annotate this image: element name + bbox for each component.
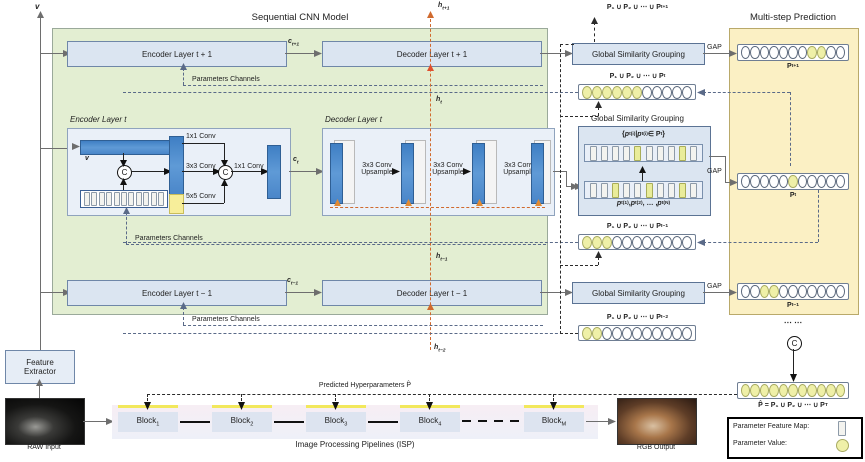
parameter-feature-map-bar bbox=[612, 146, 619, 161]
parameter-feature-map-bar bbox=[612, 183, 619, 198]
parameter-value-circle bbox=[769, 285, 778, 298]
encoder-conv5x5-arrow-icon bbox=[220, 179, 229, 186]
parameter-value-circle bbox=[798, 175, 807, 188]
parameter-feature-map-bar bbox=[634, 146, 641, 161]
rgb-output-label: RGB Output bbox=[617, 444, 695, 451]
union-t-feedback-arrow-icon bbox=[697, 88, 705, 97]
c-mid-line bbox=[289, 171, 319, 172]
encoder-layer-top-label: Encoder Layer t + 1 bbox=[142, 50, 212, 59]
parameter-value-circle bbox=[672, 86, 682, 99]
parameter-value-circle bbox=[741, 46, 750, 59]
final-prediction-label: P̂ = P₁ ∪ P₂ ∪ ⋯ ∪ PT bbox=[730, 401, 856, 409]
parameter-value-circle bbox=[672, 327, 682, 340]
union-tm1-feed-vline bbox=[598, 257, 599, 265]
isp-connector-2-3 bbox=[274, 421, 304, 423]
final-concat-line bbox=[793, 349, 794, 377]
gsg-mid-row-top bbox=[584, 144, 703, 162]
encoder-feature-tall-bar bbox=[169, 136, 184, 196]
parameter-feature-map-bar bbox=[668, 146, 675, 161]
parameter-value-circle bbox=[798, 285, 807, 298]
gsg-mid-seq-label: pt(1), pt(2), … , pt(N) bbox=[578, 200, 709, 207]
diagram-root: Sequential CNN Model Multi-step Predicti… bbox=[0, 0, 865, 462]
params-channels-mid-line bbox=[126, 244, 546, 245]
parameter-value-circle bbox=[817, 384, 826, 397]
parameter-value-circle bbox=[592, 236, 602, 249]
isp-block-2-label: Block2 bbox=[231, 416, 254, 428]
decoder-op-2-arrow-icon bbox=[463, 167, 471, 176]
predicted-hyper-arrow-1-icon bbox=[143, 402, 152, 410]
parameter-feature-map-bar bbox=[590, 183, 597, 198]
isp-connector-4-m bbox=[462, 420, 522, 422]
parameter-value-circle bbox=[750, 46, 759, 59]
h-tm2-label: ht−2 bbox=[434, 344, 446, 353]
union-column-mid-hline bbox=[560, 116, 598, 117]
decoder-marker-1-icon bbox=[333, 199, 342, 207]
encoder-layer-top[interactable]: Encoder Layer t + 1 bbox=[67, 41, 287, 67]
parameter-value-circle bbox=[582, 86, 592, 99]
parameter-value-circle bbox=[622, 327, 632, 340]
legend-value-icon bbox=[836, 439, 849, 452]
parameter-value-circle bbox=[760, 175, 769, 188]
gap-mid-label: GAP bbox=[707, 168, 722, 175]
isp-to-rgb-arrow-icon bbox=[608, 417, 616, 426]
parameter-value-circle bbox=[788, 384, 797, 397]
prediction-row-tm1 bbox=[737, 283, 849, 300]
parameter-feature-map-bar bbox=[657, 183, 664, 198]
gsg-bottom-to-pred-arrow-icon bbox=[729, 288, 737, 297]
final-concat-node: C bbox=[787, 336, 802, 351]
union-tm1-row bbox=[578, 234, 696, 250]
encoder-layer-bottom-label: Encoder Layer t − 1 bbox=[142, 289, 212, 298]
parameter-value-circle bbox=[769, 384, 778, 397]
decoder-marker-base-line bbox=[330, 207, 545, 208]
parameter-value-circle bbox=[750, 175, 759, 188]
parameter-feature-map-bar bbox=[646, 146, 653, 161]
parameter-value-circle bbox=[807, 285, 816, 298]
feature-extractor-line2: Extractor bbox=[24, 367, 56, 376]
feature-extractor-line1: Feature bbox=[26, 358, 54, 367]
union-t-feedback-vline bbox=[790, 92, 791, 166]
encoder-v-label: v bbox=[85, 155, 89, 162]
parameter-value-circle bbox=[602, 86, 612, 99]
union-tm1-label: P₁ ∪ P₂ ∪ ⋯ ∪ Pt−1 bbox=[565, 222, 710, 230]
decoder-op-1-arrow-icon bbox=[392, 167, 400, 176]
c-mid-label: ct bbox=[293, 156, 299, 165]
encoder-v-in-arrow-icon bbox=[72, 142, 80, 151]
parameter-value-circle bbox=[807, 175, 816, 188]
isp-block-1[interactable]: Block1 bbox=[118, 412, 178, 432]
isp-title: Image Processing Pipelines (ISP) bbox=[170, 440, 540, 449]
v-branch-bottom bbox=[40, 292, 65, 293]
prediction-row-tm1-label: Pt−1 bbox=[737, 302, 849, 309]
decoder-layer-top-label: Decoder Layer t + 1 bbox=[397, 50, 467, 59]
decoder-op-1-line2: Upsample bbox=[361, 169, 393, 176]
encoder-conv3x3-line bbox=[182, 171, 216, 172]
decoder-t-title: Decoder Layer t bbox=[325, 115, 382, 124]
encoder-layer-bottom[interactable]: Encoder Layer t − 1 bbox=[67, 280, 287, 306]
parameter-value-circle bbox=[622, 236, 632, 249]
parameter-feature-map-bar bbox=[679, 146, 686, 161]
predicted-hyper-arrow-4-icon bbox=[425, 402, 434, 410]
predicted-hyper-arrow-m-icon bbox=[549, 402, 558, 410]
decoder-op-2-line2: Upsample bbox=[432, 169, 464, 176]
global-similarity-grouping-top[interactable]: Global Similarity Grouping bbox=[572, 43, 705, 65]
parameter-value-circle bbox=[798, 46, 807, 59]
decoder-marker-4-icon bbox=[534, 199, 543, 207]
params-channels-bottom-arrow-icon bbox=[179, 302, 188, 310]
encoder-conv5x5-label: 5x5 Conv bbox=[186, 193, 216, 200]
c-bottom-arrow-icon bbox=[314, 288, 322, 297]
union-t-label: P₁ ∪ P₂ ∪ ⋯ ∪ Pt bbox=[565, 72, 710, 80]
parameter-value-circle bbox=[826, 46, 835, 59]
isp-connector-1-2 bbox=[180, 421, 210, 423]
decoder-op-3-line1: 3x3 Conv bbox=[504, 162, 534, 169]
union-t-feedback-left-line bbox=[123, 92, 578, 93]
parameter-feature-map-bar bbox=[690, 183, 697, 198]
legend-value-label: Parameter Value: bbox=[733, 440, 787, 447]
parameter-value-circle bbox=[741, 384, 750, 397]
gsg-bottom-label: Global Similarity Grouping bbox=[592, 289, 685, 298]
parameter-value-circle bbox=[682, 86, 692, 99]
v-trunk-line bbox=[40, 14, 41, 366]
c-top-line bbox=[285, 53, 317, 54]
parameter-feature-map-bar bbox=[690, 146, 697, 161]
h-chain-marker-bottom-icon bbox=[426, 303, 435, 311]
gsg-top-label: Global Similarity Grouping bbox=[592, 50, 685, 59]
union-tm2-left-line bbox=[123, 333, 578, 334]
params-channels-mid-arrow-icon bbox=[122, 207, 131, 215]
parameter-value-circle bbox=[592, 86, 602, 99]
encoder-conv5x5-line bbox=[182, 203, 224, 204]
decoder-marker-2-icon bbox=[404, 199, 413, 207]
global-similarity-grouping-bottom[interactable]: Global Similarity Grouping bbox=[572, 282, 705, 304]
decoder-bar-blue-4 bbox=[531, 143, 544, 204]
union-t-row bbox=[578, 84, 696, 100]
raw-input-label: RAW Input bbox=[5, 444, 83, 451]
parameter-value-circle bbox=[817, 285, 826, 298]
params-channels-top-line bbox=[183, 85, 543, 86]
parameter-value-circle bbox=[622, 86, 632, 99]
parameter-value-circle bbox=[750, 285, 759, 298]
decoder-t-out-vline bbox=[566, 171, 567, 186]
parameter-value-circle bbox=[662, 327, 672, 340]
parameter-value-circle bbox=[836, 46, 845, 59]
parameter-feature-map-bar bbox=[668, 183, 675, 198]
parameter-value-circle bbox=[836, 175, 845, 188]
parameter-value-circle bbox=[741, 175, 750, 188]
encoder-strip-to-concat-arrow-icon bbox=[119, 178, 128, 185]
parameter-value-circle bbox=[826, 175, 835, 188]
legend-feature-map-label: Parameter Feature Map: bbox=[733, 423, 809, 430]
parameter-value-circle bbox=[769, 175, 778, 188]
predicted-hyper-arrow-3-icon bbox=[331, 402, 340, 410]
params-channels-mid-label: Parameters Channels bbox=[133, 235, 205, 242]
parameter-value-circle bbox=[582, 236, 592, 249]
gsg-mid-row-bottom bbox=[584, 181, 703, 199]
params-channels-mid-left-v bbox=[126, 212, 127, 244]
gsg-mid-out-line bbox=[709, 156, 725, 157]
parameter-value-circle bbox=[582, 327, 592, 340]
parameter-value-circle bbox=[769, 46, 778, 59]
parameter-value-circle bbox=[612, 86, 622, 99]
c-bottom-line bbox=[285, 292, 317, 293]
parameter-value-circle bbox=[779, 46, 788, 59]
parameter-feature-map-bar bbox=[634, 183, 641, 198]
parameter-value-circle bbox=[836, 285, 845, 298]
union-tp1-vline bbox=[594, 22, 595, 42]
parameter-value-circle bbox=[826, 384, 835, 397]
union-column-mid2-hline bbox=[560, 265, 598, 266]
union-tm1-feedback-arrow-icon bbox=[697, 238, 705, 247]
parameter-feature-map-bar bbox=[623, 183, 630, 198]
parameter-value-circle bbox=[662, 236, 672, 249]
h-t-label: ht bbox=[436, 96, 442, 105]
union-tm2-row bbox=[578, 325, 696, 341]
raw-input-image bbox=[5, 398, 85, 445]
parameter-value-circle bbox=[798, 384, 807, 397]
encoder-concat-node-2: C bbox=[218, 165, 233, 180]
parameter-value-circle bbox=[817, 46, 826, 59]
encoder-conv1x1-out-line bbox=[231, 171, 264, 172]
parameter-feature-map-bar bbox=[623, 146, 630, 161]
prediction-row-tp1 bbox=[737, 44, 849, 61]
multi-step-title: Multi-step Prediction bbox=[729, 10, 857, 24]
parameter-value-circle bbox=[760, 384, 769, 397]
parameter-value-circle bbox=[836, 384, 845, 397]
parameter-value-circle bbox=[652, 327, 662, 340]
encoder-conv1x1-top-label: 1x1 Conv bbox=[186, 133, 216, 140]
parameter-value-circle bbox=[602, 327, 612, 340]
parameter-value-circle bbox=[826, 285, 835, 298]
isp-to-rgb-line bbox=[586, 421, 610, 422]
parameter-value-circle bbox=[592, 327, 602, 340]
input-v-label-top: v bbox=[35, 2, 39, 11]
gap-bottom-label: GAP bbox=[707, 283, 722, 290]
encoder-v-to-concat-arrow-icon bbox=[119, 160, 128, 167]
parameter-value-circle bbox=[807, 46, 816, 59]
encoder-conv1x1-out-label: 1x1 Conv bbox=[234, 163, 264, 170]
parameter-feature-map-bar bbox=[590, 146, 597, 161]
decoder-bar-blue-2 bbox=[401, 143, 414, 204]
parameter-value-circle bbox=[682, 236, 692, 249]
gsg-top-to-pred-line bbox=[703, 53, 731, 54]
isp-block-m-label: BlockM bbox=[542, 416, 566, 428]
parameter-value-circle bbox=[632, 236, 642, 249]
parameter-value-circle bbox=[652, 236, 662, 249]
parameter-value-circle bbox=[642, 86, 652, 99]
isp-block-m[interactable]: BlockM bbox=[524, 412, 584, 432]
parameter-value-circle bbox=[779, 285, 788, 298]
encoder-output-bar bbox=[267, 145, 281, 199]
isp-block-4-label: Block4 bbox=[419, 416, 442, 428]
parameter-value-circle bbox=[632, 86, 642, 99]
h-tp1-label: ht+1 bbox=[438, 2, 450, 11]
encoder-feature-param-segment bbox=[169, 194, 184, 214]
encoder-t-title: Encoder Layer t bbox=[70, 115, 126, 124]
gap-top-label: GAP bbox=[707, 44, 722, 51]
encoder-conv1x1-top-line bbox=[182, 143, 224, 144]
decoder-bar-blue-1 bbox=[330, 143, 343, 204]
encoder-conv3x3-label: 3x3 Conv bbox=[186, 163, 216, 170]
isp-block-2[interactable]: Block2 bbox=[212, 412, 272, 432]
union-column-top-hline bbox=[560, 44, 574, 45]
parameter-value-circle bbox=[760, 285, 769, 298]
parameter-value-circle bbox=[779, 175, 788, 188]
parameter-value-circle bbox=[779, 384, 788, 397]
prediction-row-t-label: Pt bbox=[737, 192, 849, 199]
union-column-bottom-hline bbox=[560, 333, 578, 334]
gsg-bottom-to-pred-line bbox=[703, 292, 731, 293]
parameter-value-circle bbox=[642, 327, 652, 340]
union-tm1-feedback-left-line bbox=[123, 242, 578, 243]
c-top-label: ct+1 bbox=[288, 38, 299, 47]
parameter-value-circle bbox=[741, 285, 750, 298]
params-channels-top-arrow-icon bbox=[179, 63, 188, 71]
parameter-value-circle bbox=[788, 175, 797, 188]
parameter-value-circle bbox=[612, 236, 622, 249]
gsg-mid-title: Global Similarity Grouping bbox=[572, 112, 703, 124]
parameter-value-circle bbox=[662, 86, 672, 99]
decoder-op-2-line1: 3x3 Conv bbox=[433, 162, 463, 169]
h-chain-marker-top-icon bbox=[426, 64, 435, 72]
union-tp1-arrow-icon bbox=[590, 17, 599, 25]
decoder-marker-3-icon bbox=[475, 199, 484, 207]
final-concat-arrow-icon bbox=[789, 374, 798, 382]
isp-block-3-label: Block3 bbox=[325, 416, 348, 428]
enc-top-to-gsg-line bbox=[540, 53, 568, 54]
parameter-value-circle bbox=[602, 236, 612, 249]
enc-bottom-to-gsg-line bbox=[540, 292, 568, 293]
c-bottom-label: ct−1 bbox=[287, 277, 298, 286]
parameter-feature-map-bar bbox=[657, 146, 664, 161]
c-top-arrow-icon bbox=[314, 49, 322, 58]
v-branch-top bbox=[40, 53, 65, 54]
isp-block-3[interactable]: Block3 bbox=[306, 412, 366, 432]
parameter-feature-map-bar bbox=[646, 183, 653, 198]
encoder-param-strip bbox=[80, 190, 168, 208]
prediction-row-t bbox=[737, 173, 849, 190]
encoder-concat-to-bar-line bbox=[131, 171, 167, 172]
parameter-value-circle bbox=[632, 327, 642, 340]
h-chain-arrow-top-icon bbox=[426, 11, 435, 19]
decoder-layer-bottom-label: Decoder Layer t − 1 bbox=[397, 289, 467, 298]
isp-connector-3-4 bbox=[368, 421, 398, 423]
predicted-hyper-arrow-2-icon bbox=[237, 402, 246, 410]
parameter-value-circle bbox=[760, 46, 769, 59]
parameter-feature-map-bar bbox=[601, 146, 608, 161]
multi-step-panel bbox=[729, 28, 859, 315]
gsg-mid-set-label: {pt(i) | pt(i) ∈ Pt} bbox=[578, 130, 709, 138]
rgb-output-image bbox=[617, 398, 697, 445]
parameter-feature-map-bar bbox=[679, 183, 686, 198]
prediction-ellipsis: ⋯ ⋯ bbox=[737, 318, 849, 327]
parameter-value-circle bbox=[652, 86, 662, 99]
isp-block-4[interactable]: Block4 bbox=[400, 412, 460, 432]
v-arrow-up-icon bbox=[36, 11, 45, 19]
dec-t-to-gsg-mid-arrow-icon bbox=[571, 182, 579, 191]
parameter-value-circle bbox=[807, 384, 816, 397]
raw-to-fx-arrow-icon bbox=[35, 379, 44, 387]
parameter-value-circle bbox=[750, 384, 759, 397]
parameter-value-circle bbox=[788, 285, 797, 298]
union-t-feedback-line bbox=[703, 92, 790, 93]
parameter-feature-map-bar bbox=[601, 183, 608, 198]
parameter-value-circle bbox=[672, 236, 682, 249]
raw-to-isp-line bbox=[83, 421, 108, 422]
h-tm1-label: ht−1 bbox=[436, 253, 448, 262]
params-channels-top-label: Parameters Channels bbox=[190, 76, 262, 83]
sequential-cnn-title: Sequential CNN Model bbox=[200, 10, 400, 24]
decoder-op-1-line1: 3x3 Conv bbox=[362, 162, 392, 169]
prediction-row-tp1-label: Pt+1 bbox=[737, 63, 849, 70]
predicted-hyper-label: Predicted Hyperparameters P̂ bbox=[210, 382, 520, 389]
gsg-top-to-pred-arrow-icon bbox=[729, 49, 737, 58]
parameter-value-circle bbox=[642, 236, 652, 249]
union-column-vline bbox=[560, 44, 561, 334]
params-channels-bottom-line bbox=[183, 325, 543, 326]
union-tp1-label: P₁ ∪ P₂ ∪ ⋯ ∪ Pt+1 bbox=[565, 3, 710, 11]
gsg-mid-internal-line bbox=[642, 172, 643, 181]
encoder-v-feature-bar bbox=[80, 140, 170, 155]
params-channels-bottom-label: Parameters Channels bbox=[190, 316, 262, 323]
parameter-value-circle bbox=[682, 327, 692, 340]
parameter-value-circle bbox=[817, 175, 826, 188]
parameter-value-circle bbox=[612, 327, 622, 340]
parameter-value-circle bbox=[788, 46, 797, 59]
union-tm1-feedback-line bbox=[703, 242, 818, 243]
gsg-mid-out-vline bbox=[725, 156, 726, 182]
final-prediction-row bbox=[737, 382, 849, 399]
union-tm2-label: P₁ ∪ P₂ ∪ ⋯ ∪ Pt−2 bbox=[565, 313, 710, 321]
isp-block-1-label: Block1 bbox=[137, 416, 160, 428]
legend-feature-map-icon bbox=[838, 421, 846, 436]
decoder-bar-blue-3 bbox=[472, 143, 485, 204]
predicted-hyper-bus-line bbox=[147, 394, 737, 395]
